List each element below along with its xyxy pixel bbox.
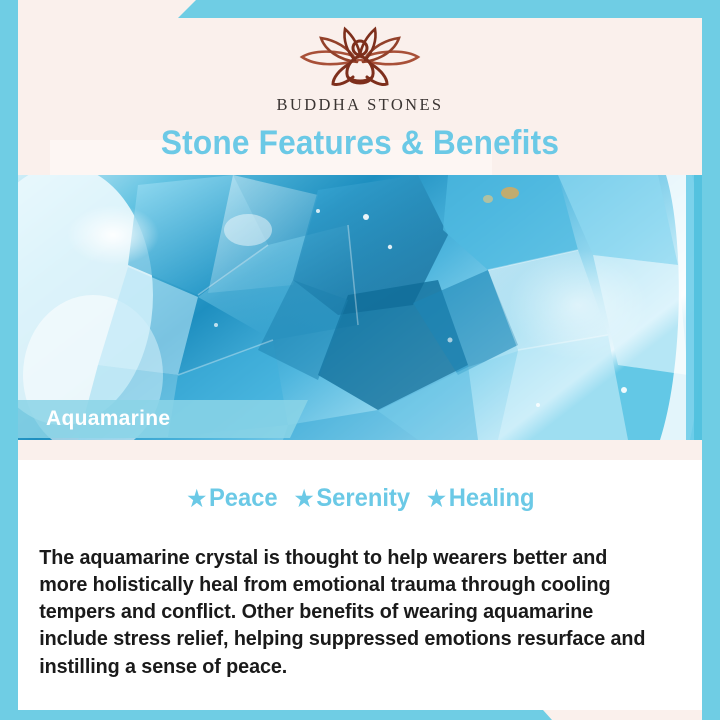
benefit-label-serenity: Serenity — [316, 484, 410, 512]
benefits-row: ★Peace★Serenity★Healing — [35, 470, 685, 519]
benefit-item-healing: ★Healing — [418, 484, 542, 512]
stone-name-text: Aquamarine — [18, 407, 170, 431]
card-body: BUDDHA STONES Stone Features & Benefits — [18, 18, 702, 700]
stone-name-badge: Aquamarine — [18, 400, 308, 438]
benefit-label-healing: Healing — [449, 484, 535, 512]
benefit-item-peace: ★Peace — [178, 484, 285, 512]
content-area: ★Peace★Serenity★Healing The aquamarine c… — [18, 440, 702, 710]
brand-logo: BUDDHA STONES — [18, 18, 702, 122]
description-panel: ★Peace★Serenity★Healing The aquamarine c… — [18, 460, 702, 710]
page-title: Stone Features & Benefits — [42, 124, 678, 163]
brand-name: BUDDHA STONES — [276, 95, 443, 115]
frame-right-bar — [702, 0, 720, 720]
benefit-label-peace: Peace — [209, 484, 278, 512]
cream-divider — [18, 440, 702, 460]
promo-card: BUDDHA STONES Stone Features & Benefits — [0, 0, 720, 720]
description-text: The aquamarine crystal is thought to hel… — [18, 540, 678, 680]
benefit-item-serenity: ★Serenity — [285, 484, 417, 512]
frame-left-bar — [0, 0, 18, 720]
star-icon: ★ — [427, 486, 446, 511]
lotus-meditation-icon — [275, 26, 445, 94]
frame-top-bar — [0, 0, 720, 18]
star-icon: ★ — [295, 486, 314, 511]
star-icon: ★ — [187, 486, 206, 511]
stone-photo: Aquamarine — [18, 175, 702, 440]
